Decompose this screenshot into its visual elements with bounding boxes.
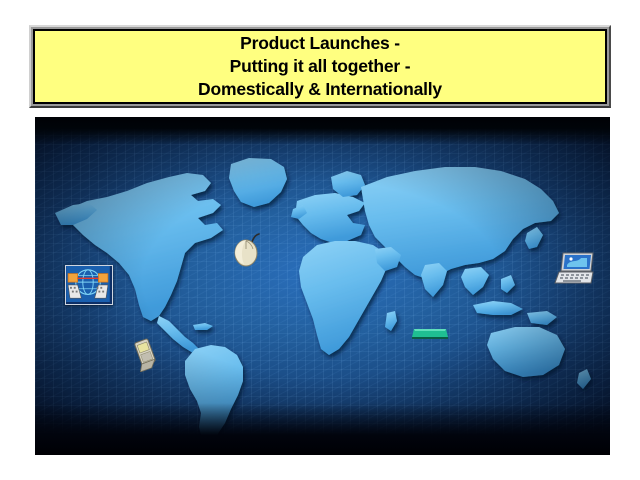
map-bottom-fade bbox=[35, 403, 610, 455]
title-line-2: Putting it all together - bbox=[230, 55, 411, 78]
title-banner-inner: Product Launches - Putting it all togeth… bbox=[33, 29, 607, 104]
green-chip-icon bbox=[410, 326, 450, 342]
title-line-1: Product Launches - bbox=[240, 32, 400, 55]
title-line-3: Domestically & Internationally bbox=[198, 78, 442, 101]
presentation-slide: Product Launches - Putting it all togeth… bbox=[0, 0, 640, 480]
computer-mouse-icon bbox=[231, 231, 265, 267]
title-banner: Product Launches - Putting it all togeth… bbox=[29, 25, 611, 108]
network-globe-icon bbox=[65, 265, 113, 305]
world-map-image: Linda Johnson, MBA Manager Marketing Com… bbox=[35, 117, 610, 455]
mobile-phone-icon bbox=[133, 338, 159, 372]
map-top-fade bbox=[35, 117, 610, 145]
laptop-icon bbox=[553, 251, 597, 289]
